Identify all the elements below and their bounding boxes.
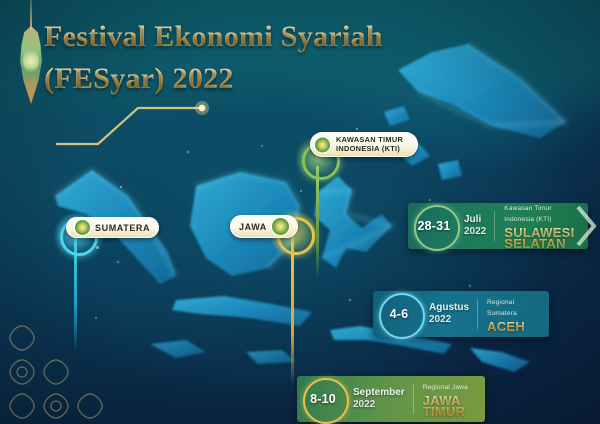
pin-stem — [316, 166, 319, 280]
event-month: Agustus — [429, 302, 469, 314]
event-month-year: September 2022 — [349, 387, 413, 411]
pin-label: JAWA — [239, 222, 267, 232]
event-province: ACEH — [487, 321, 535, 332]
event-dates: 28-31 — [418, 219, 451, 233]
event-month-year: Juli 2022 — [460, 214, 494, 238]
event-date-badge: 4-6 — [373, 291, 425, 337]
event-card-jatim[interactable]: 8-10 September 2022 Regional Jawa JAWA T… — [297, 376, 485, 422]
rosette-icon — [75, 220, 90, 235]
pin-stem — [291, 236, 294, 386]
pin-label-pill[interactable]: KAWASAN TIMUR INDONESIA (KTI) — [310, 132, 418, 157]
card-arrow-icon — [576, 203, 600, 249]
rosette-icon — [272, 218, 289, 235]
poster-canvas: Festival Ekonomi Syariah (FESyar) 2022 S… — [0, 0, 600, 424]
pin-label: SUMATERA — [95, 223, 150, 233]
rosette-icon — [315, 137, 330, 152]
event-region: Regional Sumatera — [487, 297, 535, 319]
title-line-2: (FESyar) 2022 — [44, 58, 444, 100]
event-province: SULAWESI SELATAN — [504, 227, 574, 249]
event-dates: 8-10 — [310, 392, 336, 406]
pin-label-pill[interactable]: JAWA — [230, 215, 298, 238]
event-card-sulsel[interactable]: 28-31 Juli 2022 Kawasan Timur Indonesia … — [408, 203, 588, 249]
event-month: Juli — [464, 214, 486, 226]
title-line-1: Festival Ekonomi Syariah — [44, 16, 444, 58]
event-year: 2022 — [353, 399, 405, 411]
map-pin-kti[interactable]: KAWASAN TIMUR INDONESIA (KTI) — [298, 120, 418, 280]
event-region: Kawasan Timur Indonesia (KTI) — [504, 203, 574, 225]
map-pin-sumatera[interactable]: SUMATERA — [30, 198, 190, 348]
event-year: 2022 — [464, 226, 486, 238]
pin-label: KAWASAN TIMUR INDONESIA (KTI) — [336, 136, 409, 153]
event-dates: 4-6 — [390, 307, 409, 321]
pin-label-pill[interactable]: SUMATERA — [66, 217, 159, 238]
event-region: Regional Jawa — [423, 382, 471, 393]
event-province: JAWA TIMUR — [423, 395, 471, 417]
event-month-year: Agustus 2022 — [425, 302, 477, 326]
event-month: September — [353, 387, 405, 399]
event-date-badge: 8-10 — [297, 376, 349, 422]
event-place: Kawasan Timur Indonesia (KTI) SULAWESI S… — [495, 203, 588, 249]
event-date-badge: 28-31 — [408, 203, 460, 249]
poster-title: Festival Ekonomi Syariah (FESyar) 2022 — [44, 16, 444, 100]
event-card-aceh[interactable]: 4-6 Agustus 2022 Regional Sumatera ACEH — [373, 291, 549, 337]
event-year: 2022 — [429, 314, 469, 326]
event-place: Regional Sumatera ACEH — [478, 297, 549, 332]
event-place: Regional Jawa JAWA TIMUR — [414, 382, 485, 417]
